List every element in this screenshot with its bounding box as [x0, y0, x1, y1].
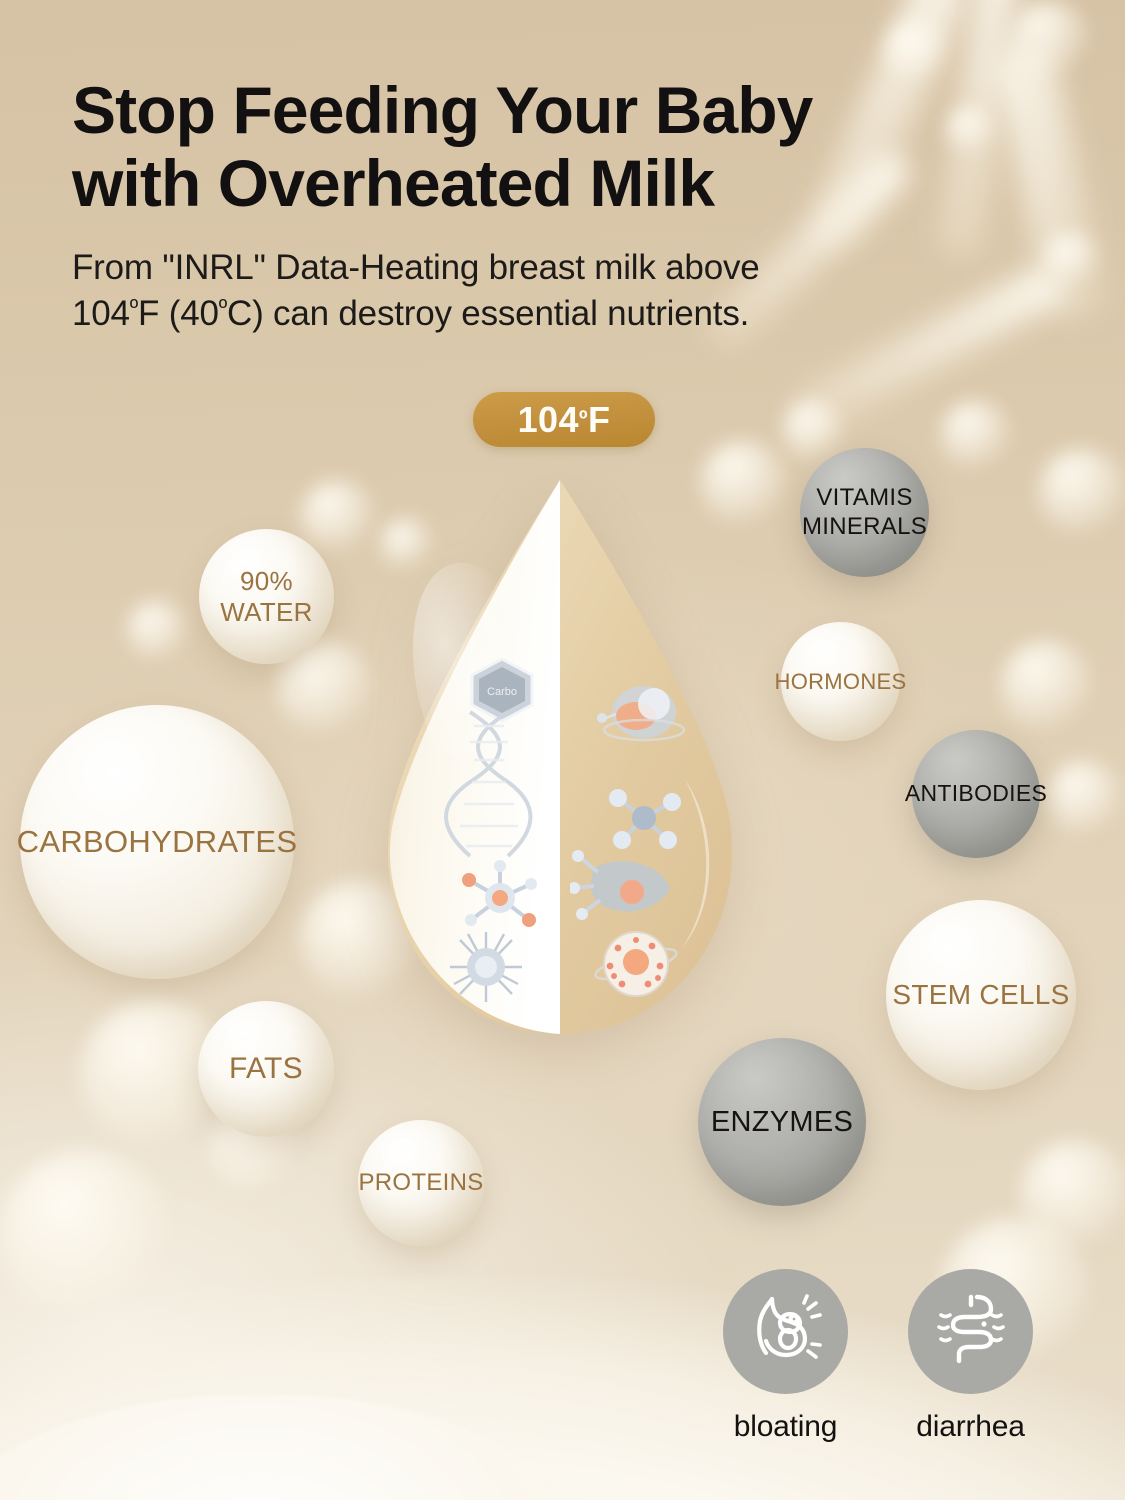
nutrient-label: STEM CELLS	[892, 978, 1069, 1011]
symptom-label: bloating	[734, 1410, 838, 1444]
nutrient-label: HORMONES	[775, 669, 907, 695]
subtitle-line-1: From "INRL" Data-Heating breast milk abo…	[72, 248, 760, 287]
nutrient-label: VITAMIS MINERALS	[802, 484, 927, 541]
headline-line-1: Stop Feeding Your Baby	[72, 73, 813, 147]
nutrient-bubble-proteins: PROTEINS	[358, 1120, 484, 1246]
degree-symbol-c: º	[219, 294, 227, 320]
infographic-poster: Stop Feeding Your Baby with Overheated M…	[0, 0, 1125, 1500]
bokeh-light	[940, 400, 1010, 470]
nutrient-label: 90% WATER	[220, 566, 313, 627]
page-title: Stop Feeding Your Baby with Overheated M…	[72, 74, 1022, 221]
bokeh-light	[1000, 640, 1092, 732]
degree-symbol: º	[579, 406, 588, 434]
nutrient-label: FATS	[229, 1051, 303, 1086]
temperature-value: 104	[518, 399, 579, 441]
nutrient-label: CARBOHYDRATES	[17, 824, 298, 861]
nutrient-bubble-antibodies: ANTIBODIES	[912, 730, 1040, 858]
stomach-bloating-icon	[746, 1289, 826, 1374]
subtitle-mid: (40	[159, 294, 219, 333]
bokeh-light	[1020, 1140, 1125, 1250]
subtitle-temp-f: 104	[72, 294, 130, 333]
nutrient-label: PROTEINS	[358, 1169, 483, 1197]
temperature-badge: 104ºF	[473, 392, 655, 447]
page-subtitle: From "INRL" Data-Heating breast milk abo…	[72, 245, 1022, 337]
symptom-diarrhea: diarrhea	[908, 1269, 1033, 1444]
nutrient-bubble-carbohydrates: CARBOHYDRATES	[20, 705, 294, 979]
nutrient-bubble-water: 90% WATER	[199, 529, 334, 664]
bokeh-light	[884, 20, 946, 82]
symptom-bloating: bloating	[723, 1269, 848, 1444]
symptom-icon-circle	[908, 1269, 1033, 1394]
nutrient-bubble-vitamins-minerals: VITAMIS MINERALS	[800, 448, 929, 577]
bokeh-light	[1044, 232, 1098, 286]
subtitle-unit-f: F	[138, 294, 159, 333]
bokeh-light	[126, 600, 188, 662]
bokeh-light	[1010, 0, 1088, 78]
headline-line-2: with Overheated Milk	[72, 146, 714, 220]
bokeh-light	[1038, 448, 1125, 536]
nutrient-bubble-stem-cells: STEM CELLS	[886, 900, 1076, 1090]
nutrient-bubble-hormones: HORMONES	[781, 622, 900, 741]
bokeh-light	[1046, 760, 1122, 836]
subtitle-suffix: ) can destroy essential nutrients.	[252, 294, 749, 333]
header-block: Stop Feeding Your Baby with Overheated M…	[72, 74, 1022, 337]
milk-droplet	[364, 478, 756, 1040]
degree-symbol-f: º	[130, 294, 138, 320]
intestine-diarrhea-icon	[931, 1289, 1011, 1374]
nutrient-label: ENZYMES	[711, 1105, 853, 1139]
nutrient-bubble-enzymes: ENZYMES	[698, 1038, 866, 1206]
nutrient-label: ANTIBODIES	[905, 780, 1047, 807]
subtitle-unit-c: C	[227, 294, 252, 333]
temperature-unit: F	[588, 399, 610, 441]
nutrient-bubble-fats: FATS	[198, 1001, 334, 1137]
bokeh-light	[300, 480, 374, 554]
bokeh-light	[782, 400, 844, 462]
symptom-icon-circle	[723, 1269, 848, 1394]
symptom-label: diarrhea	[916, 1410, 1024, 1444]
